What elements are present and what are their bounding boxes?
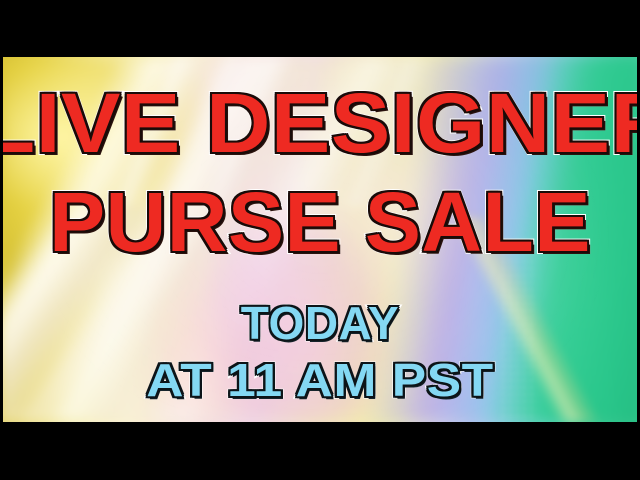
letterbox-bar-top [0, 0, 640, 57]
letterbox-border-left [0, 0, 3, 480]
mesh-texture-strip [500, 237, 538, 422]
hanger-rail-streaks [0, 57, 640, 207]
background-photo [0, 57, 640, 422]
pink-handbag-shapes [0, 57, 640, 422]
quilted-flap-bag [0, 207, 640, 422]
video-thumbnail: LIVE DESIGNER PURSE SALE TODAY AT 11 AM … [0, 0, 640, 480]
background-color-columns [0, 57, 640, 422]
cream-handbag-shapes [0, 57, 640, 422]
gold-highlight-flare [0, 57, 640, 422]
gold-chain-strap [430, 217, 640, 422]
purple-handbag-band [0, 57, 640, 422]
green-handbag-panel [0, 57, 640, 422]
letterbox-bar-bottom [0, 422, 640, 480]
background-blur-softener [0, 57, 640, 422]
